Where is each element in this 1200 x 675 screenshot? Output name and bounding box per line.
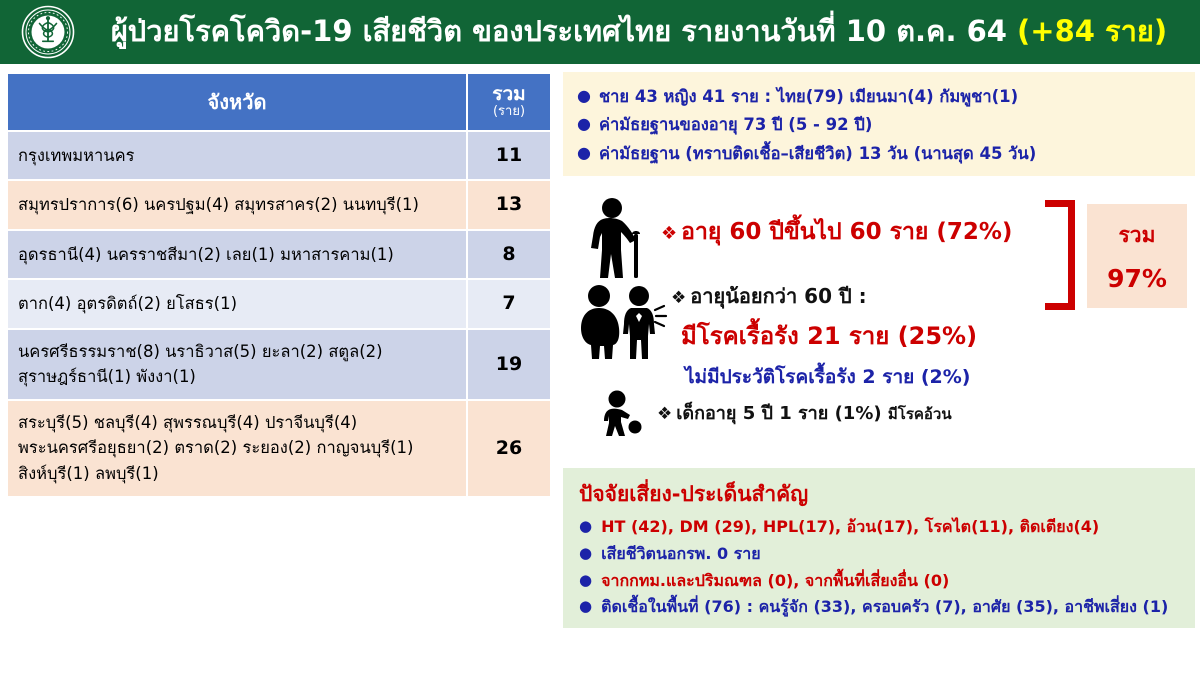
cell-province: สระบุรี(5) ชลบุรี(4) สุพรรณบุรี(4) ปราจี… — [8, 401, 466, 496]
fact-text: ชาย 43 หญิง 41 ราย : ไทย(79) เมียนมา(4) … — [599, 86, 1018, 108]
bullet-icon: ● — [579, 517, 592, 537]
summary-facts-box: ● ชาย 43 หญิง 41 ราย : ไทย(79) เมียนมา(4… — [563, 72, 1195, 176]
cell-total: 11 — [468, 132, 550, 179]
bullet-icon: ● — [577, 143, 591, 162]
cell-province: กรุงเทพมหานคร — [8, 132, 466, 179]
age-breakdown-area: ❖อายุ 60 ปีขึ้นไป 60 ราย (72%) — [563, 176, 1195, 468]
cell-province: สมุทรปราการ(6) นครปฐม(4) สมุทรสาคร(2) นน… — [8, 181, 466, 228]
risk-text: จากกทม.และปริมณฑล (0), จากพื้นที่เสี่ยงอ… — [601, 571, 949, 592]
column-header-total: รวม (ราย) — [468, 74, 550, 130]
infographic-page: ผู้ป่วยโรคโควิด-19 เสียชีวิต ของประเทศไท… — [0, 0, 1200, 675]
diamond-bullet-icon: ❖ — [657, 404, 672, 424]
two-adults-obese-and-chest-pain-icon — [573, 284, 669, 366]
column-header-total-label: รวม — [492, 83, 525, 105]
risk-line: ● จากกทม.และปริมณฑล (0), จากพื้นที่เสี่ย… — [579, 571, 1183, 592]
table-row: นครศรีธรรมราช(8) นราธิวาส(5) ยะลา(2) สตู… — [8, 330, 550, 399]
grouping-bracket — [1045, 200, 1075, 310]
risk-text: ติดเชื้อในพื้นที่ (76) : คนรู้จัก (33), … — [601, 597, 1168, 618]
page-header: ผู้ป่วยโรคโควิด-19 เสียชีวิต ของประเทศไท… — [0, 0, 1200, 64]
diamond-bullet-icon: ❖ — [671, 288, 686, 308]
risk-text: เสียชีวิตนอกรพ. 0 ราย — [601, 544, 761, 565]
risk-line: ● HT (42), DM (29), HPL(17), อ้วน(17), โ… — [579, 517, 1183, 538]
risk-factors-title: ปัจจัยเสี่ยง-ประเด็นสำคัญ — [579, 478, 1183, 511]
child-stat-text: เด็กอายุ 5 ปี 1 ราย (1%) — [676, 403, 881, 424]
chronic-disease-text: มีโรคเรื้อรัง 21 ราย (25%) — [681, 322, 977, 350]
fact-line: ● ค่ามัธยฐาน (ทราบติดเชื้อ–เสียชีวิต) 13… — [577, 143, 1183, 165]
under60-label-line: ❖อายุน้อยกว่า 60 ปี : — [671, 280, 867, 312]
risk-factors-box: ปัจจัยเสี่ยง-ประเด็นสำคัญ ● HT (42), DM … — [563, 468, 1195, 628]
page-title: ผู้ป่วยโรคโควิด-19 เสียชีวิต ของประเทศไท… — [96, 16, 1200, 48]
risk-line: ● เสียชีวิตนอกรพ. 0 ราย — [579, 544, 1183, 565]
bullet-icon: ● — [579, 597, 592, 617]
cell-total: 13 — [468, 181, 550, 228]
bullet-icon: ● — [579, 544, 592, 564]
elderly-person-with-cane-icon — [581, 196, 653, 286]
elderly-stat-line: ❖อายุ 60 ปีขึ้นไป 60 ราย (72%) — [661, 214, 1012, 250]
bullet-icon: ● — [577, 114, 591, 133]
no-chronic-disease-line: ไม่มีประวัติโรคเรื้อรัง 2 ราย (2%) — [685, 362, 971, 392]
right-panel: ● ชาย 43 หญิง 41 ราย : ไทย(79) เมียนมา(4… — [563, 72, 1195, 668]
bullet-icon: ● — [579, 571, 592, 591]
page-title-highlight: (+84 ราย) — [1017, 14, 1167, 48]
table-row: อุดรธานี(4) นครราชสีมา(2) เลย(1) มหาสารค… — [8, 231, 550, 278]
table-row: สระบุรี(5) ชลบุรี(4) สุพรรณบุรี(4) ปราจี… — [8, 401, 550, 496]
column-header-province: จังหวัด — [8, 74, 466, 130]
child-playing-ball-icon — [595, 390, 647, 442]
cell-total: 7 — [468, 280, 550, 327]
cell-total: 26 — [468, 401, 550, 496]
table-row: ตาก(4) อุตรดิตถ์(2) ยโสธร(1) 7 — [8, 280, 550, 327]
table-row: สมุทรปราการ(6) นครปฐม(4) สมุทรสาคร(2) นน… — [8, 181, 550, 228]
risk-text: HT (42), DM (29), HPL(17), อ้วน(17), โรค… — [601, 517, 1099, 538]
risk-line: ● ติดเชื้อในพื้นที่ (76) : คนรู้จัก (33)… — [579, 597, 1183, 618]
cell-province: นครศรีธรรมราช(8) นราธิวาส(5) ยะลา(2) สตู… — [8, 330, 466, 399]
child-stat-tail: มีโรคอ้วน — [888, 405, 952, 423]
cell-total: 19 — [468, 330, 550, 399]
page-title-main: ผู้ป่วยโรคโควิด-19 เสียชีวิต ของประเทศไท… — [111, 14, 1007, 48]
chronic-disease-line: มีโรคเรื้อรัง 21 ราย (25%) — [681, 316, 977, 355]
moph-logo — [0, 0, 96, 64]
bullet-icon: ● — [577, 86, 591, 105]
province-table: จังหวัด รวม (ราย) กรุงเทพมหานคร 11 สมุทร… — [6, 72, 552, 498]
diamond-bullet-icon: ❖ — [661, 223, 677, 244]
under60-label-text: อายุน้อยกว่า 60 ปี : — [690, 284, 866, 308]
fact-text: ค่ามัธยฐานของอายุ 73 ปี (5 - 92 ปี) — [599, 114, 872, 136]
no-chronic-disease-text: ไม่มีประวัติโรคเรื้อรัง 2 ราย (2%) — [685, 366, 971, 388]
cell-total: 8 — [468, 231, 550, 278]
fact-text: ค่ามัธยฐาน (ทราบติดเชื้อ–เสียชีวิต) 13 ว… — [599, 143, 1036, 165]
cell-province: อุดรธานี(4) นครราชสีมา(2) เลย(1) มหาสารค… — [8, 231, 466, 278]
fact-line: ● ค่ามัธยฐานของอายุ 73 ปี (5 - 92 ปี) — [577, 114, 1183, 136]
elderly-stat-text: อายุ 60 ปีขึ้นไป 60 ราย (72%) — [681, 219, 1012, 245]
thai-moph-emblem-icon — [21, 5, 75, 59]
province-table-wrapper: จังหวัด รวม (ราย) กรุงเทพมหานคร 11 สมุทร… — [6, 72, 552, 498]
fact-line: ● ชาย 43 หญิง 41 ราย : ไทย(79) เมียนมา(4… — [577, 86, 1183, 108]
total-percentage-box: รวม 97% — [1087, 204, 1187, 308]
column-header-total-unit: (ราย) — [472, 105, 546, 120]
total-label: รวม — [1119, 219, 1156, 252]
table-header-row: จังหวัด รวม (ราย) — [8, 74, 550, 130]
total-value: 97% — [1107, 264, 1167, 293]
child-stat-line: ❖เด็กอายุ 5 ปี 1 ราย (1%) มีโรคอ้วน — [657, 398, 952, 427]
cell-province: ตาก(4) อุตรดิตถ์(2) ยโสธร(1) — [8, 280, 466, 327]
table-row: กรุงเทพมหานคร 11 — [8, 132, 550, 179]
